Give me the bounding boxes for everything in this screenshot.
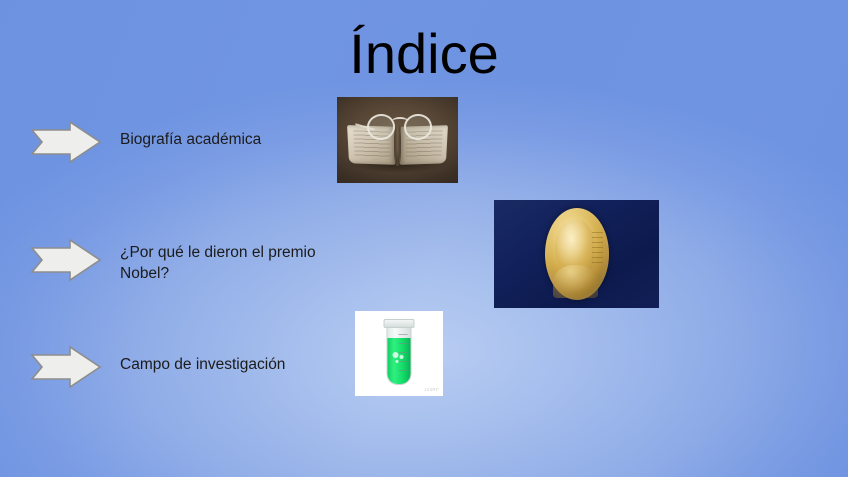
list-item[interactable]: ¿Por qué le dieron el premio Nobel?: [30, 238, 316, 284]
medal-profile-bust: [553, 265, 598, 298]
eyeglasses-icon: [366, 111, 434, 140]
list-item-label: Biografía académica: [120, 120, 261, 150]
list-item[interactable]: Campo de investigación: [30, 345, 285, 389]
image-watermark: 123RF: [424, 387, 439, 392]
test-tube-graduation-marks: [399, 325, 408, 373]
presentation-slide: Índice Biografía académica ¿Por qué le d…: [0, 0, 848, 477]
list-item-label: ¿Por qué le dieron el premio Nobel?: [120, 238, 316, 284]
eyeglasses-bridge: [392, 117, 408, 125]
eyeglasses-lens-right: [403, 113, 433, 141]
test-tube-photo: 123RF: [355, 311, 443, 396]
right-arrow-icon: [30, 345, 102, 389]
right-arrow-icon: [30, 238, 102, 282]
list-item[interactable]: Biografía académica: [30, 120, 261, 164]
open-book-with-glasses-photo: [337, 97, 458, 183]
test-tube-body: [387, 320, 412, 385]
nobel-prize-medal-photo: [494, 200, 659, 308]
page-title: Índice: [0, 18, 848, 90]
test-tube-rim: [384, 319, 415, 328]
medal-engraved-text: [592, 232, 604, 263]
book-illustration: [337, 97, 458, 183]
medal-oval: [545, 208, 609, 300]
right-arrow-icon: [30, 120, 102, 164]
list-item-label: Campo de investigación: [120, 345, 285, 375]
